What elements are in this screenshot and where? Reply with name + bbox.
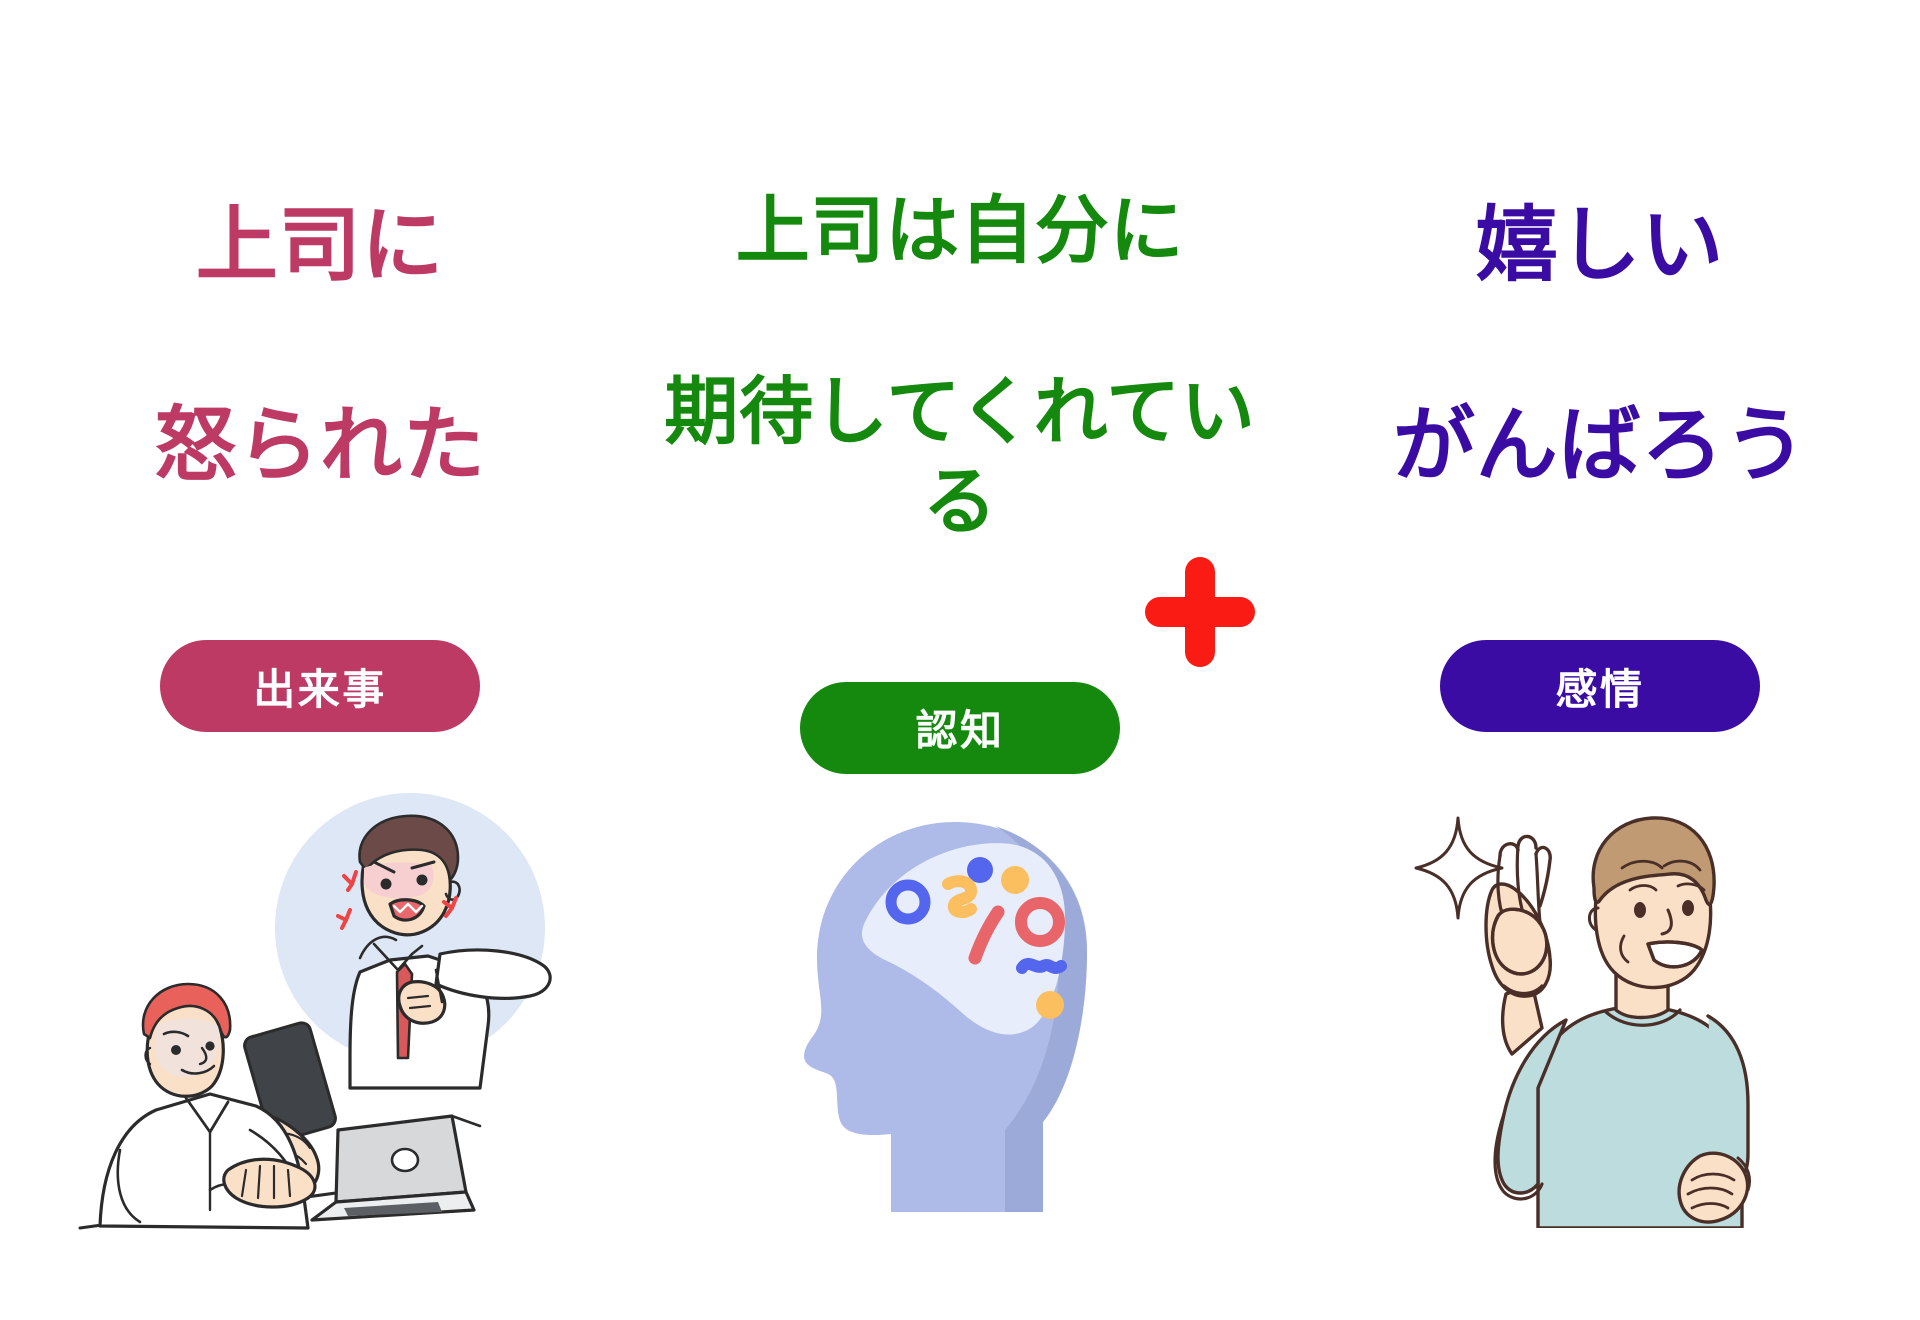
head-with-colorful-brain-illustration [795,800,1125,1230]
badge-event[interactable]: 出来事 [160,640,480,732]
headline-event-line1: 上司に [154,196,485,296]
badge-event-label: 出来事 [253,656,387,717]
headline-cognition-line1: 上司は自分に [640,186,1280,276]
headline-emotion: 嬉しい がんばろう [1393,96,1807,596]
column-event: 上司に 怒られた 出来事 [0,0,640,1320]
brain-wave-blue [1022,964,1061,968]
illustration-cognition [640,800,1280,1320]
badge-emotion[interactable]: 感情 [1440,640,1760,732]
slide-root: 上司に 怒られた 出来事 [0,0,1920,1080]
angry-boss-scolding-worker-illustration [60,758,580,1268]
three-column-layout: 上司に 怒られた 出来事 [0,0,1920,1080]
plus-icon [1140,552,1260,672]
headline-emotion-line1: 嬉しい [1393,196,1807,296]
badge-cognition[interactable]: 認知 [800,682,1120,774]
column-emotion: 嬉しい がんばろう 感情 [1280,0,1920,1320]
badge-cognition-label: 認知 [915,697,1004,758]
badge-emotion-label: 感情 [1555,656,1644,717]
headline-event-line2: 怒られた [154,396,485,496]
headline-event: 上司に 怒られた [154,96,485,596]
headline-emotion-line2: がんばろう [1393,396,1807,496]
brain-dot-orange-top [1001,866,1029,894]
illustration-event [0,758,640,1278]
happy-man-ok-gesture-illustration [1400,758,1800,1228]
illustration-emotion [1280,758,1920,1278]
headline-cognition-line2: 期待してくれている [640,367,1280,548]
plus-sign-container [1140,552,1260,672]
brain-dot-orange-bottom [1036,991,1064,1019]
